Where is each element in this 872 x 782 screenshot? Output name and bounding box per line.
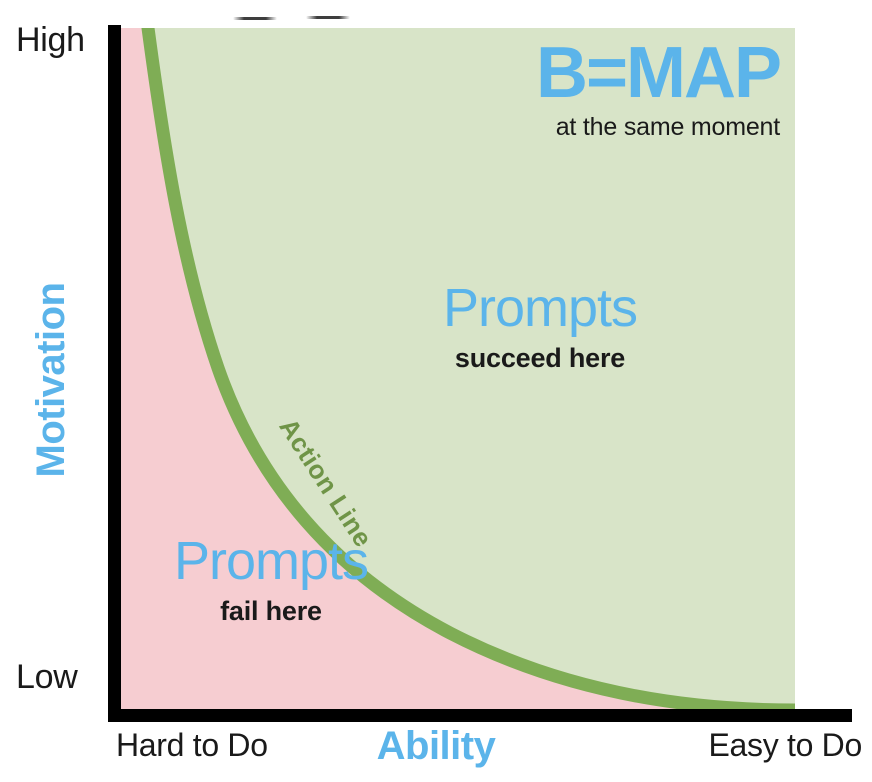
x-axis-right-label: Easy to Do xyxy=(708,729,862,761)
fail-zone-label: Prompts fail here xyxy=(136,534,406,625)
y-axis-low-label: Low xyxy=(16,660,77,694)
cropped-text-artifact xyxy=(306,16,350,19)
chart-subtitle: at the same moment xyxy=(420,115,780,140)
y-axis-high-label: High xyxy=(16,23,85,57)
succeed-zone-subtitle: succeed here xyxy=(395,345,685,372)
cropped-text-artifact xyxy=(233,17,277,20)
fail-zone-subtitle: fail here xyxy=(136,598,406,625)
y-axis-line xyxy=(108,25,121,722)
x-axis-line xyxy=(108,709,852,722)
y-axis-title: Motivation xyxy=(31,240,71,520)
succeed-zone-label: Prompts succeed here xyxy=(395,281,685,372)
chart-title: B=MAP xyxy=(420,38,780,109)
chart-canvas: High Low Motivation B=MAP at the same mo… xyxy=(0,0,872,782)
succeed-zone-title: Prompts xyxy=(395,281,685,335)
headline-block: B=MAP at the same moment xyxy=(420,38,780,140)
